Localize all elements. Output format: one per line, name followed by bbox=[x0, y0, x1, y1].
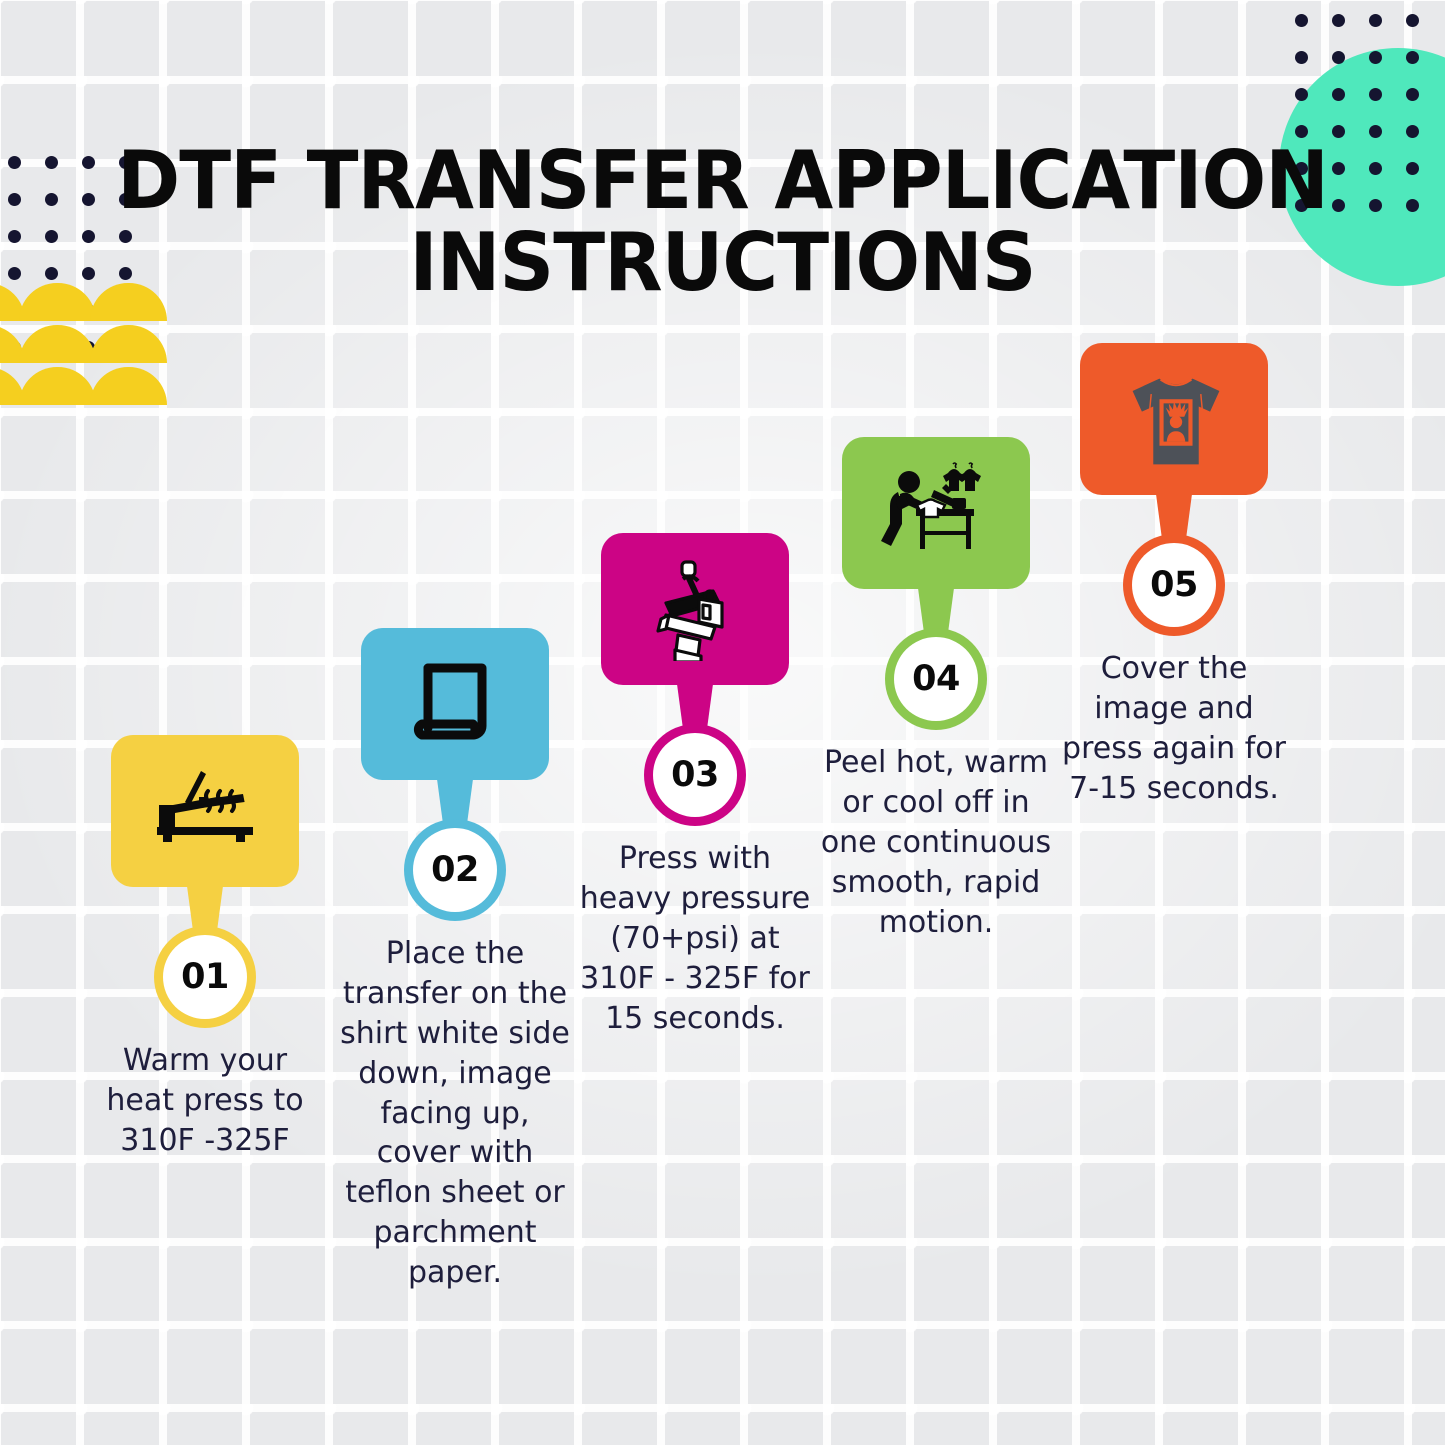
worker-pressing-shirt-icon bbox=[876, 461, 996, 565]
step-number-01: 01 bbox=[181, 957, 229, 997]
step-icon-card-03 bbox=[601, 533, 789, 685]
transfer-sheet-icon bbox=[395, 652, 515, 756]
step-card-02: 02 Place the transfer on the shirt white… bbox=[337, 628, 573, 1293]
step-number-05: 05 bbox=[1150, 565, 1198, 605]
step-number-03: 03 bbox=[671, 755, 719, 795]
step-number-bubble-02: 02 bbox=[413, 828, 497, 912]
infographic-poster: DTF TRANSFER APPLICATION INSTRUCTIONS bbox=[0, 0, 1445, 1445]
step-number-bubble-04: 04 bbox=[894, 637, 978, 721]
step-icon-card-05 bbox=[1080, 343, 1268, 495]
step-icon-card-04 bbox=[842, 437, 1030, 589]
step-description-01: Warm your heat press to 310F -325F bbox=[87, 1041, 323, 1161]
heat-press-open-icon bbox=[145, 759, 265, 863]
step-number-bubble-03: 03 bbox=[653, 733, 737, 817]
step-icon-card-02 bbox=[361, 628, 549, 780]
steps-container: 01 Warm your heat press to 310F -325F bbox=[0, 0, 1445, 1445]
step-card-01: 01 Warm your heat press to 310F -325F bbox=[87, 735, 323, 1161]
step-description-05: Cover the image and press again for 7-15… bbox=[1056, 649, 1292, 809]
heat-press-machine-icon bbox=[635, 557, 755, 661]
step-description-02: Place the transfer on the shirt white si… bbox=[337, 934, 573, 1293]
step-card-05: 05 Cover the image and press again for 7… bbox=[1056, 343, 1292, 809]
step-number-bubble-01: 01 bbox=[163, 935, 247, 1019]
step-description-04: Peel hot, warm or cool off in one contin… bbox=[818, 743, 1054, 942]
step-number-02: 02 bbox=[431, 850, 479, 890]
step-icon-card-01 bbox=[111, 735, 299, 887]
step-card-04: 04 Peel hot, warm or cool off in one con… bbox=[818, 437, 1054, 942]
step-number-04: 04 bbox=[912, 659, 960, 699]
step-description-03: Press with heavy pressure (70+psi) at 31… bbox=[577, 839, 813, 1038]
printed-tshirt-icon bbox=[1114, 367, 1234, 471]
step-card-03: 03 Press with heavy pressure (70+psi) at… bbox=[577, 533, 813, 1038]
step-number-bubble-05: 05 bbox=[1132, 543, 1216, 627]
